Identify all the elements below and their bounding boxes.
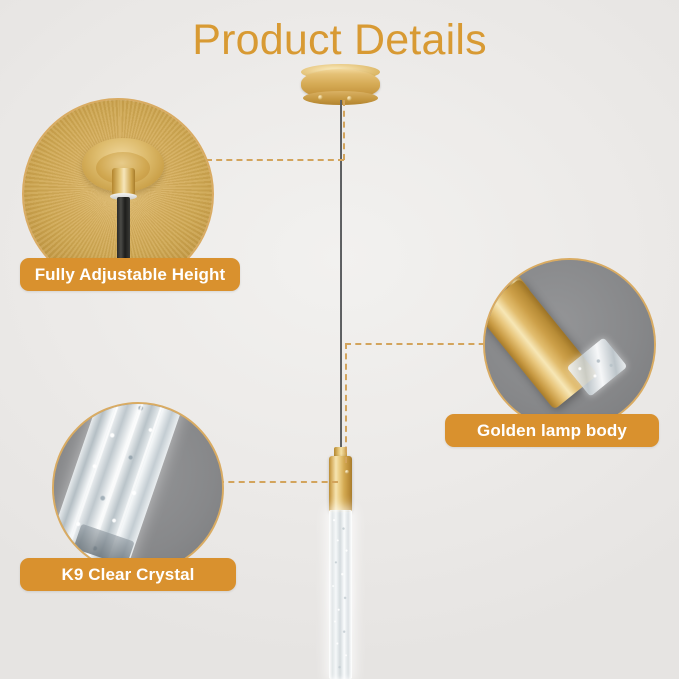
label-k9-clear-crystal: K9 Clear Crystal: [20, 558, 236, 591]
canopy-screw-icon: [347, 96, 352, 101]
page-title: Product Details: [0, 16, 679, 65]
suspension-cord: [340, 100, 342, 456]
canopy-screw-icon: [318, 95, 323, 100]
label-golden-lamp-body: Golden lamp body: [445, 414, 659, 447]
k9-crystal-bubbles: [329, 510, 352, 679]
golden-lamp-body: [329, 456, 352, 512]
callout-circle-k9-crystal[interactable]: [52, 402, 224, 574]
cord-collar: [112, 168, 135, 196]
callout-circle-golden-lamp-body[interactable]: [483, 258, 656, 431]
product-details-infographic: Product Details: [0, 0, 679, 679]
label-fully-adjustable-height: Fully Adjustable Height: [20, 258, 240, 291]
lamp-body-screw-icon: [345, 470, 349, 474]
